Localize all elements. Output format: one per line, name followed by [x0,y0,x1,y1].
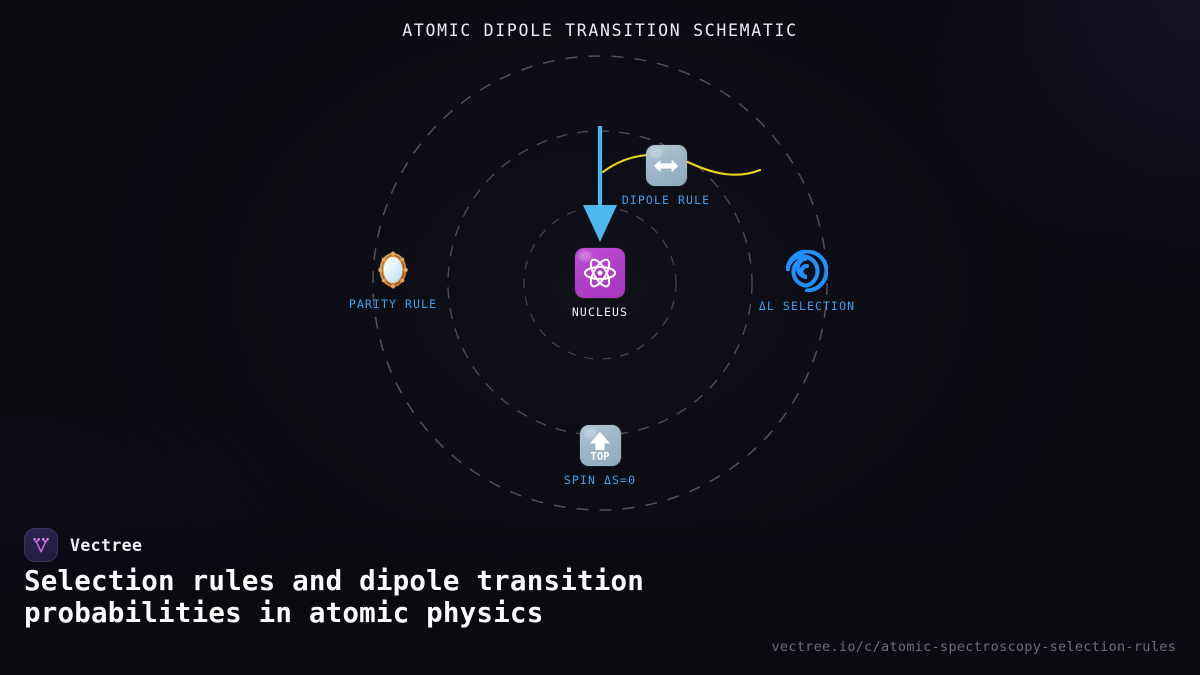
page-title: ATOMIC DIPOLE TRANSITION SCHEMATIC [0,21,1200,40]
headline: Selection rules and dipole transition pr… [24,565,784,629]
mirror-icon [373,250,413,290]
node-delta-l-selection[interactable]: ΔL SELECTION [712,250,902,313]
vectree-logo-icon [24,528,58,562]
node-nucleus[interactable]: NUCLEUS [505,248,695,319]
node-spin-rule[interactable]: TOP SPIN ΔS=0 [505,425,695,487]
node-dipole-rule[interactable]: DIPOLE RULE [571,145,761,207]
spiral-icon [786,250,828,292]
schematic-canvas: ATOMIC DIPOLE TRANSITION SCHEMATIC NUC [0,0,1200,675]
node-label-spin-rule: SPIN ΔS=0 [564,473,636,487]
left-right-arrow-icon [646,145,687,186]
node-label-delta-l-selection: ΔL SELECTION [759,299,855,313]
atom-icon [575,248,625,298]
node-label-parity-rule: PARITY RULE [349,297,437,311]
svg-text:TOP: TOP [591,451,610,463]
node-parity-rule[interactable]: PARITY RULE [298,250,488,311]
node-label-nucleus: NUCLEUS [572,305,628,319]
footer-bar: Vectree Selection rules and dipole trans… [0,515,1200,675]
source-url: vectree.io/c/atomic-spectroscopy-selecti… [771,639,1176,655]
top-arrow-icon: TOP [580,425,621,466]
brand-row: Vectree [24,528,142,562]
node-label-dipole-rule: DIPOLE RULE [622,193,710,207]
brand-name: Vectree [70,536,142,555]
